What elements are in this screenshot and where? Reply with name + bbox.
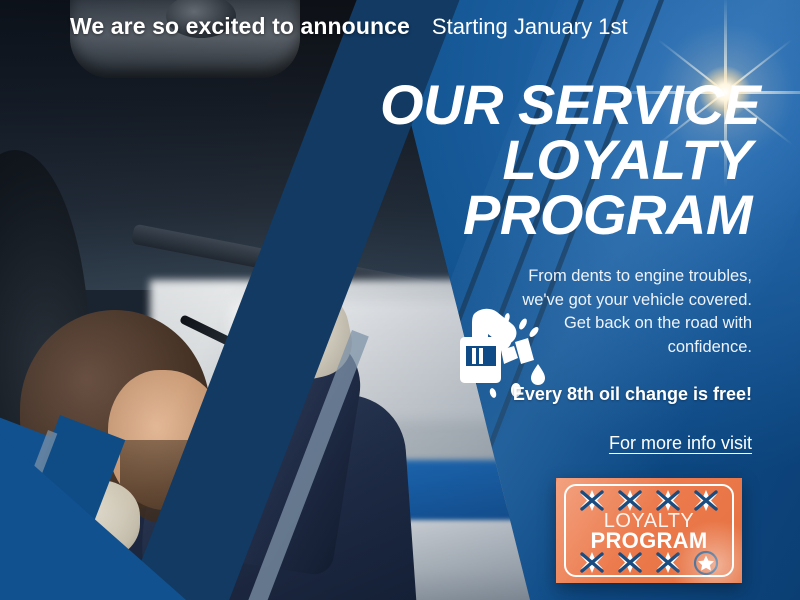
cta-container: For more info visit [380, 433, 752, 454]
loyalty-card-inner: LOYALTY PROGRAM [564, 484, 734, 577]
body-copy-line-2: we've got your vehicle covered. [380, 289, 752, 313]
offer-text: Every 8th oil change is free! [380, 384, 752, 405]
stamp-row-bottom [573, 552, 725, 573]
headline-line-3: PROGRAM [380, 188, 752, 243]
body-copy: From dents to engine troubles, we've got… [380, 265, 752, 361]
header-line: We are so excited to announce Starting J… [70, 13, 628, 40]
stamp-x-icon [579, 490, 605, 511]
stamp-x-icon [579, 552, 605, 573]
stamp-x-icon [617, 490, 643, 511]
start-date-text: Starting January 1st [432, 14, 628, 40]
body-copy-line-1: From dents to engine troubles, [380, 265, 752, 289]
stamp-x-icon [655, 552, 681, 573]
headline-line-1: OUR SERVICE [380, 78, 752, 133]
announcement-text: We are so excited to announce [70, 13, 410, 40]
stamp-x-icon [693, 490, 719, 511]
promo-poster: We are so excited to announce Starting J… [0, 0, 800, 600]
stamp-row-top [573, 490, 725, 511]
body-copy-line-3: Get back on the road with [380, 312, 752, 336]
loyalty-card[interactable]: LOYALTY PROGRAM [556, 478, 742, 583]
loyalty-card-title: LOYALTY PROGRAM [573, 511, 725, 552]
right-content-column: OUR SERVICE LOYALTY PROGRAM From dents t… [380, 78, 752, 454]
stamp-x-icon [655, 490, 681, 511]
more-info-link[interactable]: For more info visit [609, 433, 752, 453]
headline-line-2: LOYALTY [380, 133, 752, 188]
page-title: OUR SERVICE LOYALTY PROGRAM [380, 78, 752, 243]
body-copy-line-4: confidence. [380, 336, 752, 360]
stamp-x-icon [617, 552, 643, 573]
star-icon [693, 552, 719, 573]
